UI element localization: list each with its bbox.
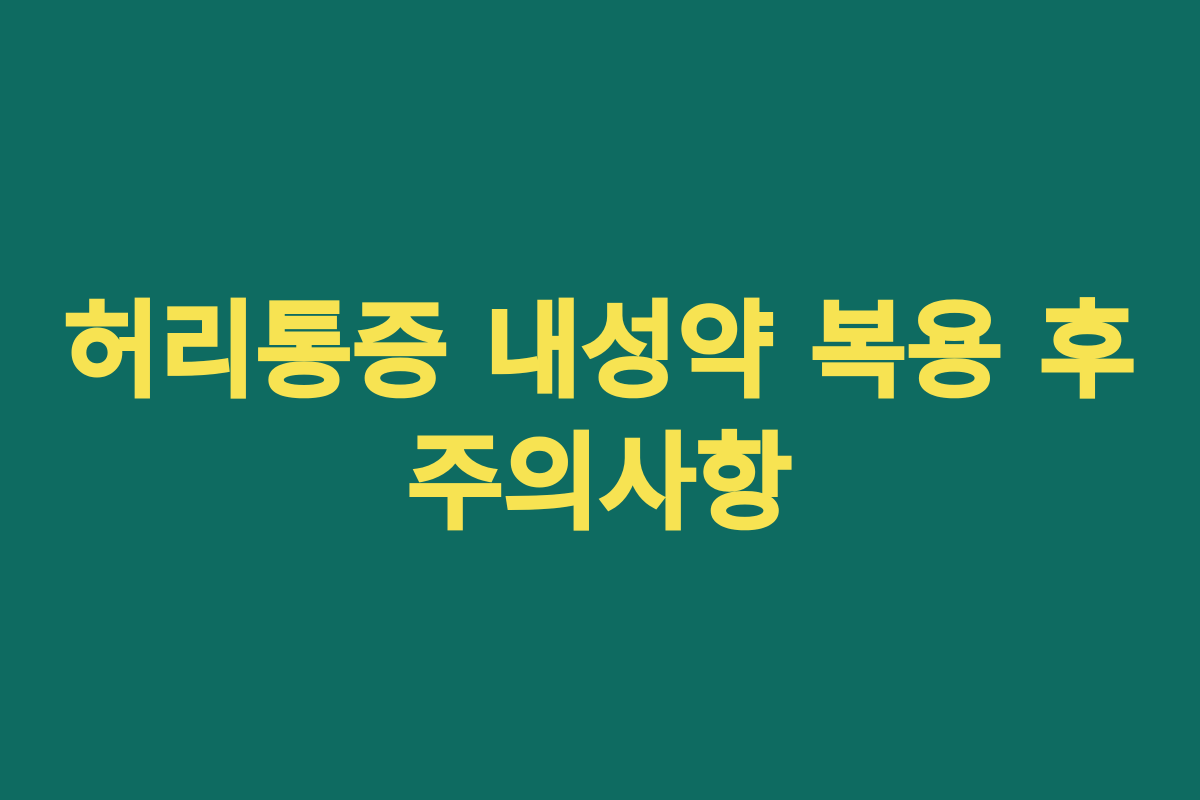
title-line-2: 주의사항 [20, 414, 1180, 552]
thumbnail-card: 허리통증 내성약 복용 후 주의사항 [0, 0, 1200, 800]
page-title: 허리통증 내성약 복용 후 주의사항 [0, 282, 1200, 553]
title-line-1: 허리통증 내성약 복용 후 [20, 282, 1180, 420]
